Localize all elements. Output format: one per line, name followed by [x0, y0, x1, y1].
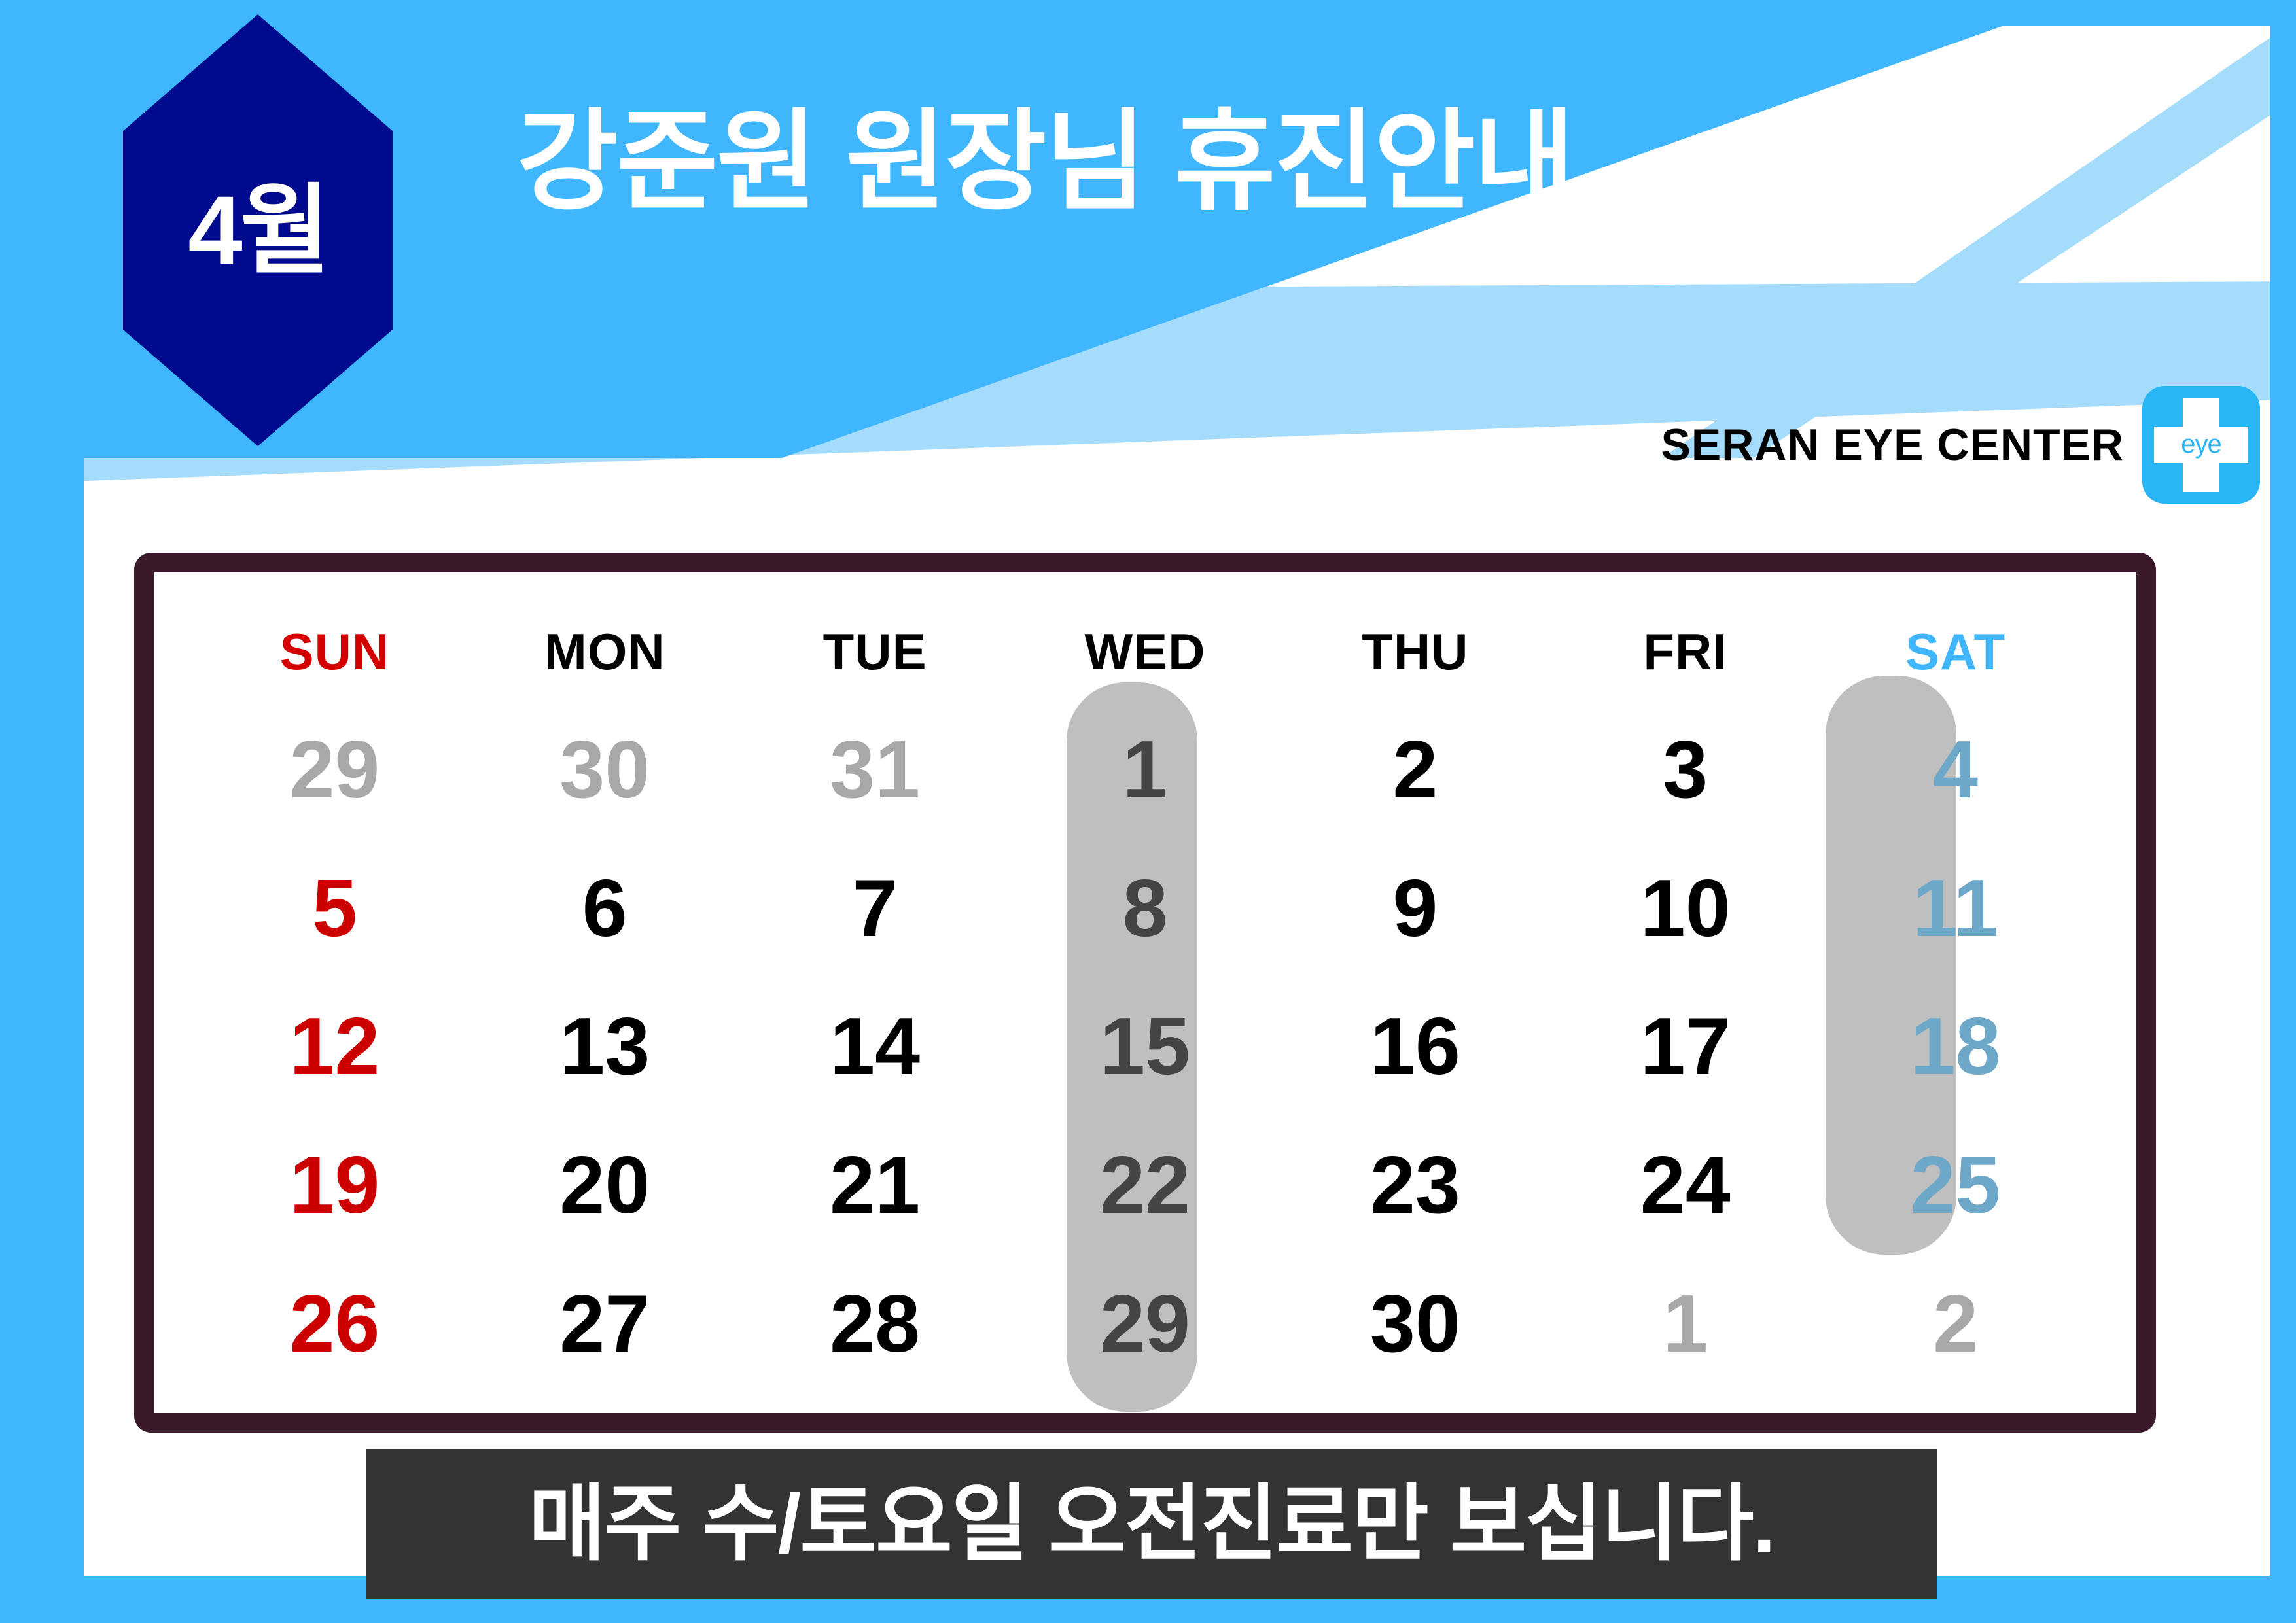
calendar-day: 21: [740, 1116, 1010, 1255]
calendar-day: 15: [1010, 978, 1280, 1117]
background-right-strip: [2270, 0, 2296, 1623]
calendar-day: 28: [740, 1255, 1010, 1393]
calendar-day: 7: [740, 839, 1010, 978]
month-badge-label: 4월: [188, 181, 327, 279]
logo-wordmark: eye: [2142, 431, 2260, 457]
notice-text: 매주 수/토요일 오전진료만 보십니다.: [529, 1482, 1775, 1566]
calendar-day: 31: [740, 701, 1010, 839]
calendar-day: 4: [1820, 701, 2091, 839]
day-header-sat: SAT: [1820, 602, 2091, 701]
holiday-notice-poster: 4월 강준원 원장님 휴진안내 SERAN EYE CENTER eye SUN…: [0, 0, 2296, 1623]
calendar-day: 13: [470, 978, 740, 1117]
day-header-wed: WED: [1010, 602, 1280, 701]
day-header-thu: THU: [1280, 602, 1550, 701]
calendar-day: 30: [470, 701, 740, 839]
calendar-grid: SUNMONTUEWEDTHUFRISAT2930311234567891011…: [154, 572, 2136, 1413]
calendar-day: 11: [1820, 839, 2091, 978]
calendar-day: 17: [1550, 978, 1820, 1117]
calendar-day: 26: [200, 1255, 470, 1393]
day-header-sun: SUN: [200, 602, 470, 701]
calendar-inner: SUNMONTUEWEDTHUFRISAT2930311234567891011…: [154, 572, 2136, 1413]
notice-banner: 매주 수/토요일 오전진료만 보십니다.: [366, 1449, 1937, 1599]
calendar-day: 29: [1010, 1255, 1280, 1393]
calendar-day: 20: [470, 1116, 740, 1255]
calendar-day: 16: [1280, 978, 1550, 1117]
calendar-day: 24: [1550, 1116, 1820, 1255]
calendar-day: 3: [1550, 701, 1820, 839]
calendar-day: 27: [470, 1255, 740, 1393]
calendar-day: 29: [200, 701, 470, 839]
clinic-brand: SERAN EYE CENTER eye: [1661, 386, 2260, 504]
calendar-day: 6: [470, 839, 740, 978]
calendar-day: 9: [1280, 839, 1550, 978]
calendar-day: 19: [200, 1116, 470, 1255]
background-left-strip: [0, 0, 84, 1623]
calendar-card: SUNMONTUEWEDTHUFRISAT2930311234567891011…: [134, 553, 2156, 1433]
calendar-day: 8: [1010, 839, 1280, 978]
calendar-day: 2: [1820, 1255, 2091, 1393]
clinic-name: SERAN EYE CENTER: [1661, 419, 2124, 470]
day-header-tue: TUE: [740, 602, 1010, 701]
calendar-day: 2: [1280, 701, 1550, 839]
day-header-mon: MON: [470, 602, 740, 701]
calendar-day: 25: [1820, 1116, 2091, 1255]
calendar-day: 5: [200, 839, 470, 978]
calendar-day: 1: [1550, 1255, 1820, 1393]
calendar-day: 1: [1010, 701, 1280, 839]
medical-cross-icon: eye: [2142, 386, 2260, 504]
page-title: 강준원 원장님 휴진안내: [517, 101, 1574, 222]
calendar-day: 14: [740, 978, 1010, 1117]
calendar-day: 23: [1280, 1116, 1550, 1255]
calendar-day: 12: [200, 978, 470, 1117]
calendar-day: 10: [1550, 839, 1820, 978]
calendar-day: 22: [1010, 1116, 1280, 1255]
day-header-fri: FRI: [1550, 602, 1820, 701]
calendar-day: 18: [1820, 978, 2091, 1117]
calendar-day: 30: [1280, 1255, 1550, 1393]
